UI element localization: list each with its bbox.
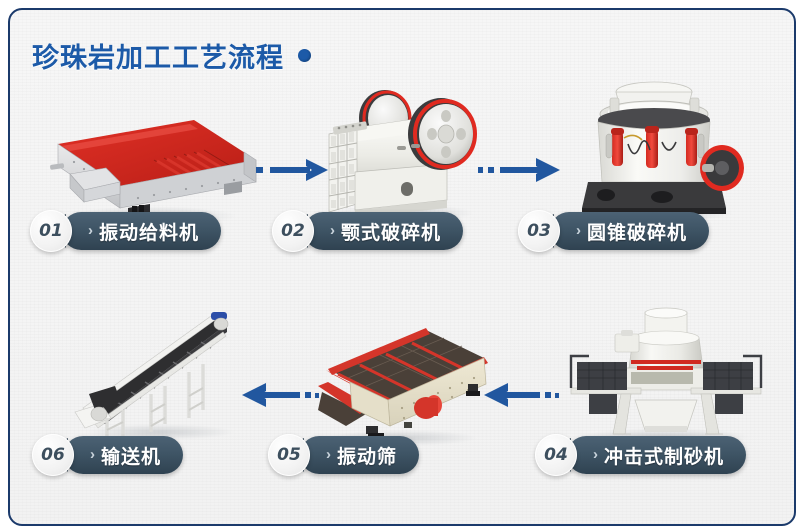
stage-number-badge: 05 xyxy=(268,434,310,476)
vibrating-screen-icon xyxy=(308,322,498,446)
arrow-02-to-03 xyxy=(478,155,564,185)
belt-conveyor-icon xyxy=(65,306,255,446)
stage-03 xyxy=(562,70,752,222)
chevron-right-icon: › xyxy=(576,222,581,239)
cone-crusher-icon xyxy=(562,70,752,222)
stage-label-02[interactable]: 02 › 颚式破碎机 xyxy=(272,210,463,252)
stage-02 xyxy=(315,72,495,224)
stage-label-text: 振动给料机 xyxy=(99,218,199,245)
chevron-right-icon: › xyxy=(330,222,335,239)
stage-label-01[interactable]: 01 › 振动给料机 xyxy=(30,210,221,252)
stage-number-badge: 06 xyxy=(32,434,74,476)
stage-label-chip[interactable]: › 振动筛 xyxy=(300,436,419,474)
chevron-right-icon: › xyxy=(90,446,95,463)
stage-06 xyxy=(65,306,255,446)
stage-label-06[interactable]: 06 › 输送机 xyxy=(32,434,183,476)
stage-label-05[interactable]: 05 › 振动筛 xyxy=(268,434,419,476)
vibrating-feeder-icon xyxy=(28,102,268,222)
stage-01 xyxy=(28,102,268,222)
stage-label-text: 振动筛 xyxy=(337,442,397,469)
stage-label-chip[interactable]: › 冲击式制砂机 xyxy=(567,436,746,474)
jaw-crusher-icon xyxy=(315,72,495,224)
stage-label-text: 输送机 xyxy=(101,442,161,469)
stage-number-badge: 03 xyxy=(518,210,560,252)
vsi-sand-making-machine-icon xyxy=(555,306,775,446)
page-title: 珍珠岩加工工艺流程 xyxy=(32,36,311,75)
stage-label-chip[interactable]: › 颚式破碎机 xyxy=(304,212,463,250)
stage-04 xyxy=(555,306,775,446)
stage-label-chip[interactable]: › 输送机 xyxy=(64,436,183,474)
blue-dot-icon xyxy=(298,49,311,62)
stage-number-badge: 04 xyxy=(535,434,577,476)
stage-number-badge: 02 xyxy=(272,210,314,252)
chevron-right-icon: › xyxy=(326,446,331,463)
stage-label-text: 圆锥破碎机 xyxy=(587,218,687,245)
stage-label-chip[interactable]: › 圆锥破碎机 xyxy=(550,212,709,250)
chevron-right-icon: › xyxy=(88,222,93,239)
chevron-right-icon: › xyxy=(593,446,598,463)
stage-number-badge: 01 xyxy=(30,210,72,252)
stage-label-text: 冲击式制砂机 xyxy=(604,442,724,469)
stage-05 xyxy=(308,322,498,446)
stage-label-04[interactable]: 04 › 冲击式制砂机 xyxy=(535,434,746,476)
stage-label-chip[interactable]: › 振动给料机 xyxy=(62,212,221,250)
title-text: 珍珠岩加工工艺流程 xyxy=(32,36,284,75)
stage-label-text: 颚式破碎机 xyxy=(341,218,441,245)
flow-diagram-frame: 珍珠岩加工工艺流程 xyxy=(8,8,796,526)
stage-label-03[interactable]: 03 › 圆锥破碎机 xyxy=(518,210,709,252)
